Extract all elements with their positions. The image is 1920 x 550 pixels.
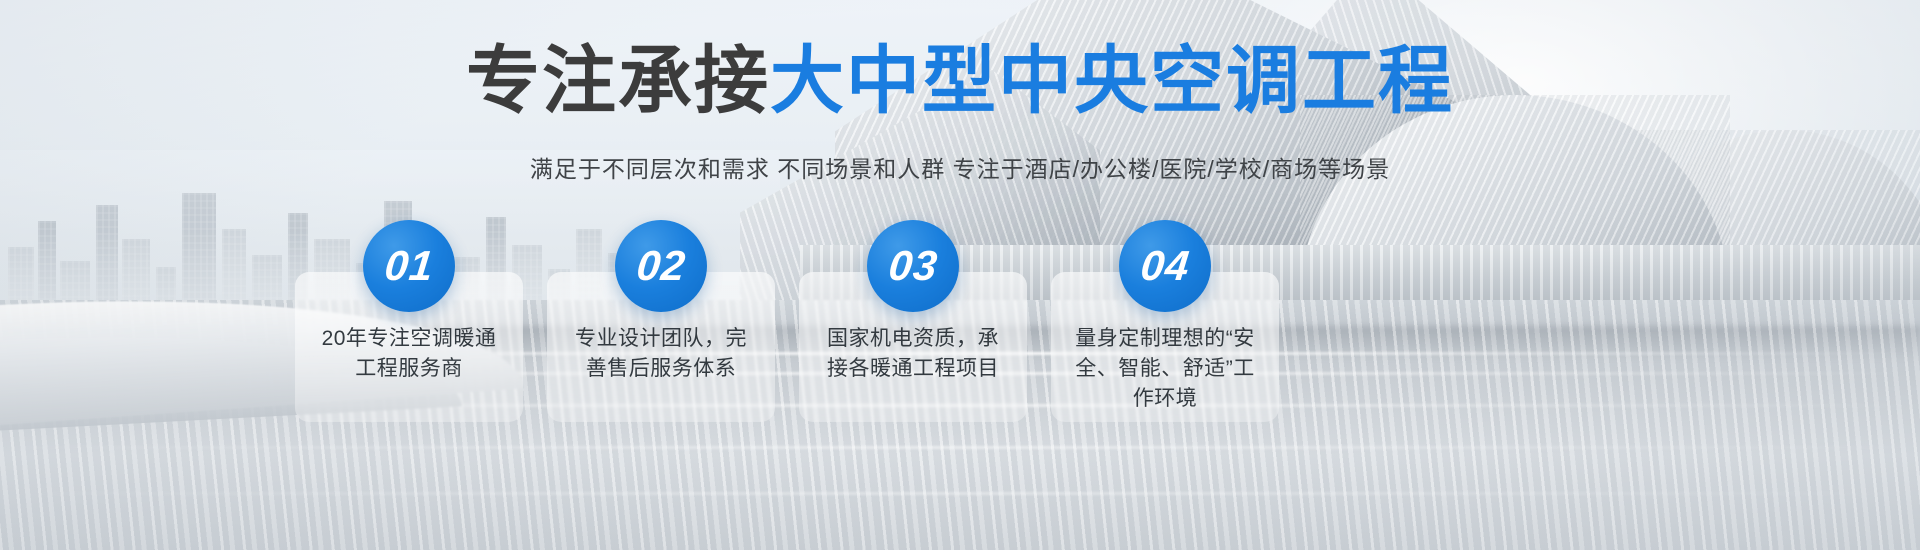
feature-card-text: 量身定制理想的“安全、智能、舒适”工作环境	[1073, 324, 1257, 413]
feature-card-text: 20年专注空调暖通工程服务商	[317, 324, 501, 384]
badge-number-02: 02	[615, 220, 707, 312]
feature-card[interactable]: 04 量身定制理想的“安全、智能、舒适”工作环境	[1051, 272, 1279, 422]
feature-card-list: 01 20年专注空调暖通工程服务商 02 专业设计团队，完善售后服务体系 03 …	[295, 272, 1585, 442]
badge-number-03: 03	[867, 220, 959, 312]
feature-card[interactable]: 01 20年专注空调暖通工程服务商	[295, 272, 523, 422]
headline-part-blue: 大中型中央空调工程	[770, 39, 1454, 122]
badge-number-04: 04	[1119, 220, 1211, 312]
page-title: 专注承接大中型中央空调工程	[0, 44, 1920, 118]
feature-card-text: 专业设计团队，完善售后服务体系	[569, 324, 753, 384]
feature-card-text: 国家机电资质，承接各暖通工程项目	[821, 324, 1005, 384]
badge-label: 02	[634, 242, 688, 290]
feature-card[interactable]: 03 国家机电资质，承接各暖通工程项目	[799, 272, 1027, 422]
badge-number-01: 01	[363, 220, 455, 312]
badge-label: 04	[1138, 242, 1192, 290]
hero-banner: 专注承接大中型中央空调工程 满足于不同层次和需求 不同场景和人群 专注于酒店/办…	[0, 0, 1920, 550]
headline-part-dark: 专注承接	[466, 39, 770, 122]
badge-label: 01	[382, 242, 436, 290]
feature-card[interactable]: 02 专业设计团队，完善售后服务体系	[547, 272, 775, 422]
badge-label: 03	[886, 242, 940, 290]
page-subtitle: 满足于不同层次和需求 不同场景和人群 专注于酒店/办公楼/医院/学校/商场等场景	[0, 150, 1920, 184]
